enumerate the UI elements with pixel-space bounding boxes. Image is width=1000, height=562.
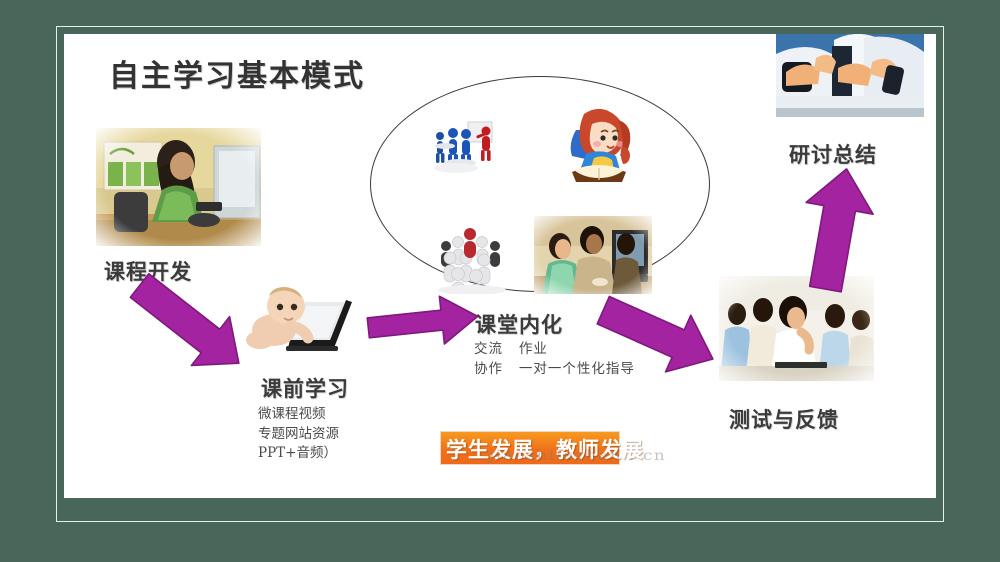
arrow-development-to-prestudy <box>120 270 260 380</box>
girl-reading-book-icon <box>558 102 640 184</box>
blue-figures-presentation-icon <box>432 120 510 178</box>
meeting-hands-photo <box>776 34 924 132</box>
baby-with-laptop-photo <box>242 278 372 362</box>
page-title: 自主学习基本模式 <box>109 51 365 95</box>
node-details-pre-class-study: 微课程视频 专题网站资源 PPT+音频） <box>258 405 339 464</box>
node-label-classroom-internalization: 课堂内化 <box>475 309 563 339</box>
students-at-computer-photo <box>534 216 652 294</box>
woman-at-computer-photo <box>96 128 261 246</box>
arrow-classroom-to-test <box>594 290 724 380</box>
white-crowd-red-leader-icon <box>432 220 514 294</box>
node-label-test-feedback: 测试与反馈 <box>729 404 839 434</box>
watermark-text: jiaoshifazhan . cn <box>489 448 666 464</box>
slide-canvas: 自主学习基本模式 <box>64 34 936 498</box>
arrow-prestudy-to-classroom <box>364 292 484 352</box>
arrow-test-to-seminar <box>786 164 886 294</box>
node-label-pre-class-study: 课前学习 <box>261 373 349 403</box>
